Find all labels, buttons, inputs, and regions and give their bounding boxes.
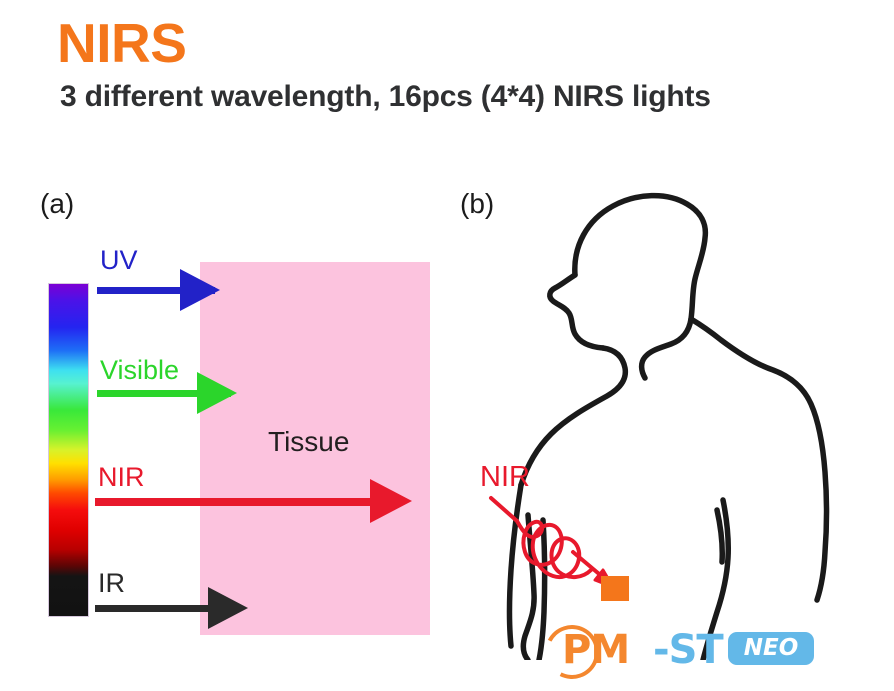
logo-st-text: -ST <box>653 630 723 670</box>
logo-pm-text: PM <box>562 630 629 670</box>
spectrum-colorbar <box>48 283 89 617</box>
nir-beam-label: NIR <box>480 463 530 492</box>
nir-beam-wave-icon <box>455 180 894 660</box>
ray-nir-arrowhead-icon <box>370 479 412 523</box>
ray-nir-line <box>95 498 385 506</box>
ray-uv-arrowhead-icon <box>180 269 220 311</box>
logo-neo-text: NEO <box>728 632 814 665</box>
ray-visible-arrowhead-icon <box>197 372 237 414</box>
nirs-sensor-patch <box>601 576 629 601</box>
ray-ir-arrowhead-icon <box>208 587 248 629</box>
figure-panel-a: (a) Tissue UV Visible NIR IR <box>0 0 460 691</box>
ray-nir-label: NIR <box>98 464 145 491</box>
ray-visible-label: Visible <box>100 357 179 384</box>
figure-panel-b: NIR <box>455 180 894 660</box>
panel-a-label: (a) <box>40 190 74 218</box>
brand-logo: PM -ST NEO <box>543 623 843 679</box>
logo-neo-badge: NEO <box>728 632 814 665</box>
slide-canvas: NIRS 3 different wavelength, 16pcs (4*4)… <box>0 0 894 691</box>
tissue-label: Tissue <box>268 428 349 456</box>
ray-uv-label: UV <box>100 247 138 274</box>
ray-ir-label: IR <box>98 570 125 597</box>
